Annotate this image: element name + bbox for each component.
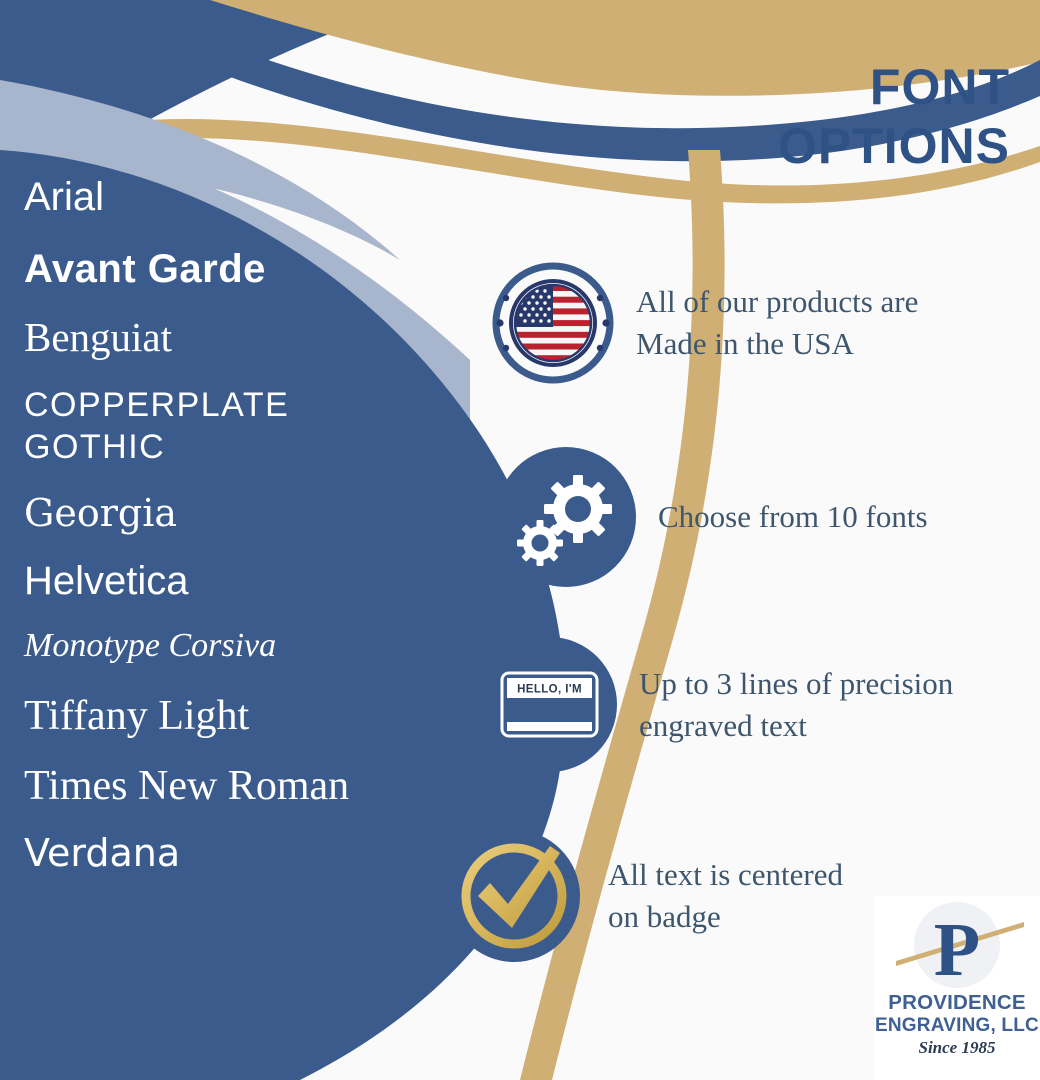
name-badge-bottom-strip: [507, 722, 592, 731]
font-item-copperplate-gothic: Copperplate Gothic: [24, 385, 424, 468]
title-line-1: FONT: [550, 58, 1010, 117]
infographic-canvas: FONT OPTIONS Arial Avant Garde Benguiat …: [0, 0, 1040, 1080]
logo-tagline: Since 1985: [874, 1038, 1040, 1058]
badge-bottom-text: MADE IN USA: [492, 262, 583, 265]
logo-name-line1: PROVIDENCE: [888, 991, 1026, 1014]
feature-text-made-in-usa: All of our products are Made in the USA: [636, 281, 1036, 365]
font-item-times-new-roman: Times New Roman: [24, 764, 424, 808]
name-badge-label: HELLO, I'M: [517, 684, 582, 696]
feature-engraved-lines: HELLO, I'M Up to 3 lines of precision en…: [482, 637, 1040, 772]
made-in-usa-badge-icon: MADE IN USA MADE IN USA: [492, 262, 614, 384]
font-options-list: Arial Avant Garde Benguiat Copperplate G…: [24, 176, 424, 888]
feature-font-choice: Choose from 10 fonts: [496, 447, 1040, 587]
name-badge-icon: HELLO, I'M: [482, 637, 617, 772]
font-item-arial: Arial: [24, 176, 424, 218]
feature-text-font-choice: Choose from 10 fonts: [658, 496, 1040, 538]
checkmark-icon: [442, 824, 586, 968]
font-item-helvetica: Helvetica: [24, 560, 424, 602]
font-item-tiffany-light: Tiffany Light: [24, 694, 424, 738]
logo-monogram-icon: P: [874, 896, 1040, 994]
font-item-georgia: Georgia: [24, 494, 424, 534]
font-item-monotype-corsiva: Monotype Corsiva: [24, 628, 424, 664]
title-line-2: OPTIONS: [550, 117, 1010, 176]
feature-made-in-usa: MADE IN USA MADE IN USA: [492, 262, 1036, 384]
company-logo: P PROVIDENCE ENGRAVING, LLC Since 1985: [874, 896, 1040, 1080]
logo-company-name: PROVIDENCE ENGRAVING, LLC: [874, 992, 1040, 1036]
page-title: FONT OPTIONS: [550, 58, 1010, 176]
logo-monogram-letter: P: [934, 908, 980, 992]
logo-mark: P: [874, 896, 1040, 994]
gears-icon: [496, 447, 636, 587]
feature-text-engraved-lines: Up to 3 lines of precision engraved text: [639, 663, 1040, 747]
font-item-benguiat: Benguiat: [24, 316, 424, 359]
logo-name-line2: ENGRAVING, LLC: [874, 1015, 1040, 1036]
font-item-avant-garde: Avant Garde: [24, 248, 424, 290]
font-item-verdana: Verdana: [24, 834, 424, 874]
